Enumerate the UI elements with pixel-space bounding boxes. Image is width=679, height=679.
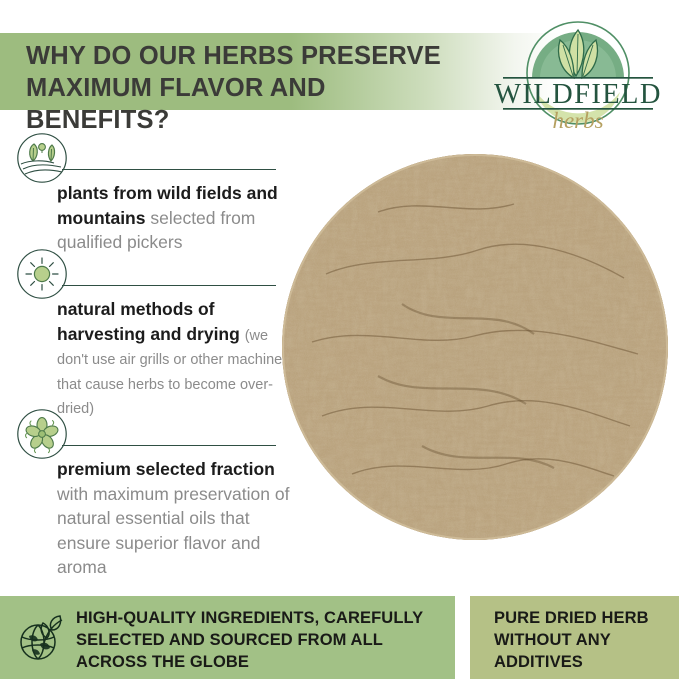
- page-title: WHY DO OUR HERBS PRESERVE MAXIMUM FLAVOR…: [26, 40, 456, 136]
- feature-lead: premium selected fraction: [57, 459, 275, 479]
- feature-text: plants from wild fields and mountains se…: [57, 181, 303, 255]
- banner-pure-dried: PURE DRIED HERB WITHOUT ANY ADDITIVES: [470, 596, 679, 679]
- feature-text: natural methods of harvesting and drying…: [57, 297, 303, 420]
- feature-divider: [62, 285, 276, 286]
- feature-divider: [62, 169, 276, 170]
- feature-rest: with maximum preservation of natural ess…: [57, 484, 289, 578]
- globe-leaf-icon: [14, 610, 68, 664]
- flower-icon: [16, 408, 68, 460]
- sun-icon: [16, 248, 68, 300]
- banner-right-text: PURE DRIED HERB WITHOUT ANY ADDITIVES: [494, 607, 674, 673]
- feature-text: premium selected fraction with maximum p…: [57, 457, 303, 580]
- feature-lead: natural methods of harvesting and drying: [57, 299, 240, 344]
- feature-divider: [62, 445, 276, 446]
- field-plants-icon: [16, 132, 68, 184]
- banner-high-quality: HIGH-QUALITY INGREDIENTS, CAREFULLY SELE…: [0, 596, 455, 679]
- herb-product-photo: [282, 154, 668, 540]
- brand-logo: WILDFIELD herbs: [492, 14, 664, 132]
- logo-script: herbs: [552, 108, 603, 132]
- logo-wordmark: WILDFIELD: [494, 79, 662, 110]
- banner-left-text: HIGH-QUALITY INGREDIENTS, CAREFULLY SELE…: [76, 607, 448, 673]
